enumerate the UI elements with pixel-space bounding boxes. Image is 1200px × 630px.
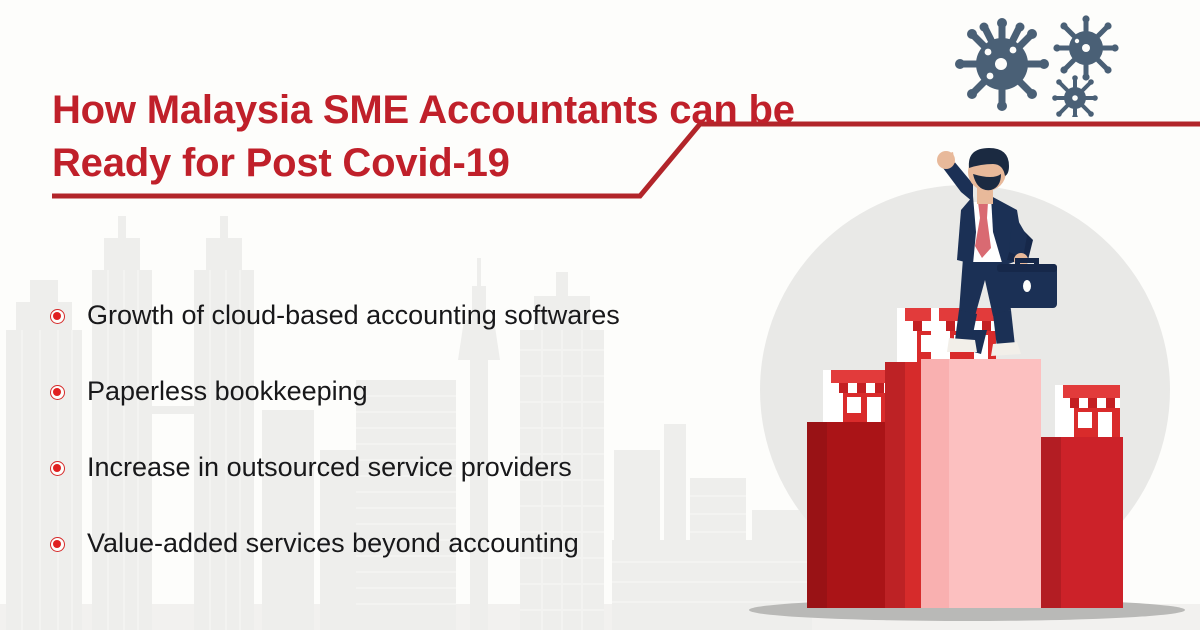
bullet-dot-icon [50,461,65,476]
bullet-label: Growth of cloud-based accounting softwar… [87,301,620,331]
page-title-line-1: How Malaysia SME Accountants can be [52,84,932,137]
growth-chart-illustration [735,140,1200,630]
bullet-dot-icon [50,537,65,552]
list-item: Value-added services beyond accounting [50,506,770,582]
bullet-dot-icon [50,385,65,400]
virus-cluster [955,12,1135,117]
storefront-icon-5 [1055,385,1120,437]
bar-4-pink [921,359,1041,608]
bar-5 [1041,437,1123,608]
bullet-label: Paperless bookkeeping [87,377,368,407]
list-item: Increase in outsourced service providers [50,430,770,506]
bullet-dot-icon [50,309,65,324]
bullet-label: Increase in outsourced service providers [87,453,572,483]
bullet-label: Value-added services beyond accounting [87,529,579,559]
list-item: Growth of cloud-based accounting softwar… [50,278,770,354]
storefront-icon-1 [823,370,889,422]
bullet-list: Growth of cloud-based accounting softwar… [50,278,770,582]
list-item: Paperless bookkeeping [50,354,770,430]
infographic-banner: How Malaysia SME Accountants can be Read… [0,0,1200,630]
bar-1 [807,422,885,608]
